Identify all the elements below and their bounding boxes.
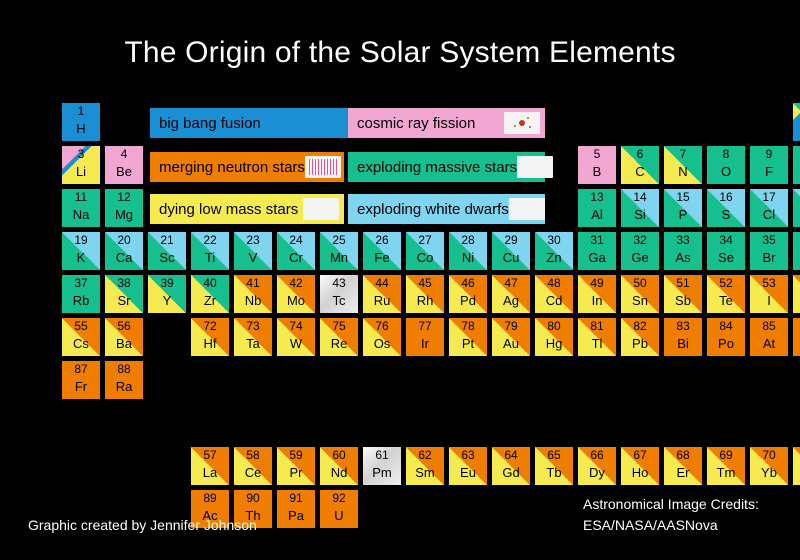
element-number: 35 [750,233,788,247]
element-number: 72 [191,319,229,333]
element-cell-fr[interactable]: 87Fr [62,361,100,399]
element-symbol: Pd [449,293,487,308]
element-symbol: Bi [664,336,702,351]
element-cell-as[interactable]: 33As [664,232,702,270]
element-cell-tb[interactable]: 65Tb [535,447,573,485]
element-cell-b[interactable]: 5B [578,146,616,184]
element-number: 25 [320,233,358,247]
element-number: 13 [578,190,616,204]
element-cell-yb[interactable]: 70Yb [750,447,788,485]
periodic-table-poster: The Origin of the Solar System Elements … [0,0,800,560]
element-symbol: Ar [793,207,800,222]
element-number: 67 [621,448,659,462]
element-cell-fe[interactable]: 26Fe [363,232,401,270]
element-symbol: Si [621,207,659,222]
element-cell-sm[interactable]: 62Sm [406,447,444,485]
element-number: 31 [578,233,616,247]
element-symbol: Pb [621,336,659,351]
element-number: 17 [750,190,788,204]
element-cell-pt[interactable]: 78Pt [449,318,487,356]
element-cell-ni[interactable]: 28Ni [449,232,487,270]
element-symbol: W [277,336,315,351]
element-number: 39 [148,276,186,290]
element-symbol: Yb [750,465,788,480]
element-symbol: Cl [750,207,788,222]
image-credits: Astronomical Image Credits: ESA/NASA/AAS… [583,494,759,536]
element-cell-tl[interactable]: 81Tl [578,318,616,356]
element-cell-au[interactable]: 79Au [492,318,530,356]
element-symbol: H [62,121,100,136]
element-number: 51 [664,276,702,290]
element-number: 42 [277,276,315,290]
legend-item-cosmic-ray-fission[interactable]: cosmic ray fission [348,108,545,138]
element-cell-mg[interactable]: 12Mg [105,189,143,227]
element-cell-at[interactable]: 85At [750,318,788,356]
element-symbol: Cd [535,293,573,308]
element-cell-si[interactable]: 14Si [621,189,659,227]
legend-label: dying low mass stars [150,201,303,218]
element-cell-gd[interactable]: 64Gd [492,447,530,485]
element-number: 80 [535,319,573,333]
element-number: 22 [191,233,229,247]
element-number: 87 [62,362,100,376]
element-number: 81 [578,319,616,333]
element-cell-o[interactable]: 8O [707,146,745,184]
element-cell-sr[interactable]: 38Sr [105,275,143,313]
element-cell-v[interactable]: 23V [234,232,272,270]
element-symbol: Fr [62,379,100,394]
element-number: 14 [621,190,659,204]
element-number: 49 [578,276,616,290]
element-number: 11 [62,190,100,204]
element-number: 85 [750,319,788,333]
element-number: 37 [62,276,100,290]
element-symbol: Ge [621,250,659,265]
element-cell-ir[interactable]: 77Ir [406,318,444,356]
element-cell-eu[interactable]: 63Eu [449,447,487,485]
element-symbol: V [234,250,272,265]
element-symbol: Pm [363,465,401,480]
element-cell-re[interactable]: 75Re [320,318,358,356]
element-number: 74 [277,319,315,333]
element-symbol: At [750,336,788,351]
element-number: 19 [62,233,100,247]
element-number: 54 [793,276,800,290]
element-number: 63 [449,448,487,462]
supernova-image-icon [517,156,553,178]
element-symbol: He [793,121,800,136]
white-dwarf-image-icon [509,198,545,220]
element-cell-sb[interactable]: 51Sb [664,275,702,313]
element-symbol: Al [578,207,616,222]
element-symbol: Gd [492,465,530,480]
element-cell-ag[interactable]: 47Ag [492,275,530,313]
element-cell-dy[interactable]: 66Dy [578,447,616,485]
gravitational-wave-image-icon [305,156,341,178]
element-symbol: Lu [793,465,800,480]
element-symbol: Mo [277,293,315,308]
element-cell-bi[interactable]: 83Bi [664,318,702,356]
element-cell-tc[interactable]: 43Tc [320,275,358,313]
element-number: 53 [750,276,788,290]
element-number: 47 [492,276,530,290]
element-cell-mn[interactable]: 25Mn [320,232,358,270]
element-number: 65 [535,448,573,462]
element-number: 28 [449,233,487,247]
element-symbol: Ru [363,293,401,308]
element-number: 7 [664,147,702,161]
element-cell-er[interactable]: 68Er [664,447,702,485]
element-symbol: Na [62,207,100,222]
element-cell-pa[interactable]: 91Pa [277,490,315,528]
element-cell-pd[interactable]: 46Pd [449,275,487,313]
element-symbol: Mn [320,250,358,265]
element-symbol: S [707,207,745,222]
element-number: 16 [707,190,745,204]
legend-label: merging neutron stars [150,159,305,176]
element-symbol: Sr [105,293,143,308]
element-number: 48 [535,276,573,290]
element-number: 79 [492,319,530,333]
element-symbol: Kr [793,250,800,265]
element-cell-lu[interactable]: 71Lu [793,447,800,485]
element-number: 56 [105,319,143,333]
element-symbol: N [664,164,702,179]
element-cell-u[interactable]: 92U [320,490,358,528]
element-number: 77 [406,319,444,333]
element-cell-cr[interactable]: 24Cr [277,232,315,270]
element-cell-na[interactable]: 11Na [62,189,100,227]
element-number: 83 [664,319,702,333]
element-number: 15 [664,190,702,204]
element-cell-tm[interactable]: 69Tm [707,447,745,485]
element-number: 24 [277,233,315,247]
element-cell-hg[interactable]: 80Hg [535,318,573,356]
element-symbol: Se [707,250,745,265]
element-symbol: Ga [578,250,616,265]
element-cell-br[interactable]: 35Br [750,232,788,270]
element-symbol: P [664,207,702,222]
element-number: 34 [707,233,745,247]
element-symbol: Cr [277,250,315,265]
element-cell-sc[interactable]: 21Sc [148,232,186,270]
element-cell-pm[interactable]: 61Pm [363,447,401,485]
element-number: 33 [664,233,702,247]
element-cell-xe[interactable]: 54Xe [793,275,800,313]
element-number: 26 [363,233,401,247]
element-cell-nd[interactable]: 60Nd [320,447,358,485]
element-symbol: Nb [234,293,272,308]
element-number: 44 [363,276,401,290]
element-number: 6 [621,147,659,161]
element-number: 88 [105,362,143,376]
element-number: 70 [750,448,788,462]
element-symbol: Hg [535,336,573,351]
element-symbol: Tl [578,336,616,351]
element-number: 43 [320,276,358,290]
legend-item-dying-low-mass-stars[interactable]: dying low mass stars [150,194,344,224]
element-symbol: Po [707,336,745,351]
element-symbol: Tc [320,293,358,308]
element-number: 92 [320,491,358,505]
element-symbol: Sc [148,250,186,265]
element-number: 1 [62,104,100,118]
element-symbol: Cs [62,336,100,351]
element-cell-h[interactable]: 1H [62,103,100,141]
element-number: 69 [707,448,745,462]
element-symbol: La [191,465,229,480]
element-cell-os[interactable]: 76Os [363,318,401,356]
element-symbol: Cu [492,250,530,265]
element-number: 27 [406,233,444,247]
element-number: 20 [105,233,143,247]
element-symbol: I [750,293,788,308]
element-cell-cu[interactable]: 29Cu [492,232,530,270]
image-credits-line2: ESA/NASA/AASNova [583,515,759,536]
element-cell-cd[interactable]: 48Cd [535,275,573,313]
element-cell-co[interactable]: 27Co [406,232,444,270]
element-symbol: Re [320,336,358,351]
element-cell-pr[interactable]: 59Pr [277,447,315,485]
element-cell-f[interactable]: 9F [750,146,788,184]
element-number: 82 [621,319,659,333]
element-number: 9 [750,147,788,161]
element-number: 68 [664,448,702,462]
element-symbol: Rb [62,293,100,308]
element-cell-ca[interactable]: 20Ca [105,232,143,270]
planetary-nebula-image-icon [303,198,339,220]
element-number: 23 [234,233,272,247]
element-symbol: As [664,250,702,265]
cosmic-ray-image-icon [504,112,540,134]
element-number: 64 [492,448,530,462]
element-symbol: Eu [449,465,487,480]
element-cell-k[interactable]: 19K [62,232,100,270]
legend-item-merging-neutron-stars[interactable]: merging neutron stars [150,152,344,182]
element-symbol: Ba [105,336,143,351]
element-cell-ne[interactable]: 10Ne [793,146,800,184]
element-symbol: Mg [105,207,143,222]
element-number: 55 [62,319,100,333]
element-symbol: Pt [449,336,487,351]
legend-label: big bang fusion [150,115,348,132]
element-number: 59 [277,448,315,462]
element-symbol: Dy [578,465,616,480]
element-symbol: Hf [191,336,229,351]
element-cell-w[interactable]: 74W [277,318,315,356]
element-number: 18 [793,190,800,204]
element-symbol: Os [363,336,401,351]
element-symbol: Pa [277,508,315,523]
element-cell-c[interactable]: 6C [621,146,659,184]
element-number: 71 [793,448,800,462]
element-symbol: K [62,250,100,265]
element-number: 73 [234,319,272,333]
element-symbol: Y [148,293,186,308]
element-cell-rn[interactable]: 86Rn [793,318,800,356]
element-cell-i[interactable]: 53I [750,275,788,313]
element-cell-ho[interactable]: 67Ho [621,447,659,485]
element-symbol: In [578,293,616,308]
element-number: 40 [191,276,229,290]
element-symbol: Xe [793,293,800,308]
element-number: 21 [148,233,186,247]
element-symbol: F [750,164,788,179]
element-symbol: Ta [234,336,272,351]
element-cell-pb[interactable]: 82Pb [621,318,659,356]
element-symbol: Sm [406,465,444,480]
legend-item-exploding-massive-stars[interactable]: exploding massive stars [348,152,545,182]
element-number: 41 [234,276,272,290]
element-cell-ce[interactable]: 58Ce [234,447,272,485]
element-cell-cs[interactable]: 55Cs [62,318,100,356]
element-cell-te[interactable]: 52Te [707,275,745,313]
legend-item-exploding-white-dwarfs[interactable]: exploding white dwarfs [348,194,545,224]
element-symbol: Fe [363,250,401,265]
element-cell-ru[interactable]: 44Ru [363,275,401,313]
element-symbol: Sn [621,293,659,308]
element-symbol: Er [664,465,702,480]
element-symbol: Rn [793,336,800,351]
element-number: 2 [793,104,800,118]
element-number: 91 [277,491,315,505]
element-symbol: Rh [406,293,444,308]
element-number: 52 [707,276,745,290]
element-number: 5 [578,147,616,161]
element-cell-y[interactable]: 39Y [148,275,186,313]
element-cell-rb[interactable]: 37Rb [62,275,100,313]
element-cell-n[interactable]: 7N [664,146,702,184]
legend-label: exploding massive stars [348,159,517,176]
element-symbol: Ho [621,465,659,480]
element-cell-ta[interactable]: 73Ta [234,318,272,356]
element-number: 4 [105,147,143,161]
element-cell-ba[interactable]: 56Ba [105,318,143,356]
element-symbol: Tb [535,465,573,480]
element-symbol: Ag [492,293,530,308]
element-number: 60 [320,448,358,462]
legend-label: cosmic ray fission [348,115,504,132]
element-cell-ra[interactable]: 88Ra [105,361,143,399]
element-symbol: Co [406,250,444,265]
element-number: 61 [363,448,401,462]
element-number: 32 [621,233,659,247]
element-cell-zn[interactable]: 30Zn [535,232,573,270]
element-cell-se[interactable]: 34Se [707,232,745,270]
element-symbol: C [621,164,659,179]
element-number: 66 [578,448,616,462]
element-cell-ga[interactable]: 31Ga [578,232,616,270]
element-symbol: Li [62,164,100,179]
element-cell-la[interactable]: 57La [191,447,229,485]
element-symbol: Ac [191,508,229,523]
element-cell-p[interactable]: 15P [664,189,702,227]
element-cell-hf[interactable]: 72Hf [191,318,229,356]
element-symbol: Ne [793,164,800,179]
element-symbol: Br [750,250,788,265]
element-symbol: Pr [277,465,315,480]
element-symbol: Zr [191,293,229,308]
element-number: 38 [105,276,143,290]
element-cell-li[interactable]: 3Li [62,146,100,184]
element-symbol: U [320,508,358,523]
element-number: 58 [234,448,272,462]
element-cell-rh[interactable]: 45Rh [406,275,444,313]
element-cell-ge[interactable]: 32Ge [621,232,659,270]
element-symbol: Tm [707,465,745,480]
element-number: 62 [406,448,444,462]
element-symbol: Be [105,164,143,179]
element-symbol: Zn [535,250,573,265]
element-cell-nb[interactable]: 41Nb [234,275,272,313]
element-cell-kr[interactable]: 36Kr [793,232,800,270]
element-cell-ti[interactable]: 22Ti [191,232,229,270]
element-symbol: Ce [234,465,272,480]
element-number: 75 [320,319,358,333]
element-number: 78 [449,319,487,333]
element-number: 90 [234,491,272,505]
element-number: 29 [492,233,530,247]
element-cell-be[interactable]: 4Be [105,146,143,184]
element-number: 57 [191,448,229,462]
legend-label: exploding white dwarfs [348,201,509,218]
element-symbol: Ti [191,250,229,265]
element-number: 30 [535,233,573,247]
element-cell-al[interactable]: 13Al [578,189,616,227]
element-cell-zr[interactable]: 40Zr [191,275,229,313]
element-cell-po[interactable]: 84Po [707,318,745,356]
element-cell-ar[interactable]: 18Ar [793,189,800,227]
element-symbol: B [578,164,616,179]
element-symbol: O [707,164,745,179]
element-symbol: Ra [105,379,143,394]
element-cell-th[interactable]: 90Th [234,490,272,528]
element-number: 50 [621,276,659,290]
page-title: The Origin of the Solar System Elements [0,36,800,70]
element-number: 8 [707,147,745,161]
element-number: 84 [707,319,745,333]
element-number: 36 [793,233,800,247]
element-number: 45 [406,276,444,290]
element-number: 12 [105,190,143,204]
element-number: 3 [62,147,100,161]
element-number: 10 [793,147,800,161]
element-number: 46 [449,276,487,290]
element-number: 89 [191,491,229,505]
image-credits-line1: Astronomical Image Credits: [583,494,759,515]
element-symbol: Th [234,508,272,523]
element-cell-in[interactable]: 49In [578,275,616,313]
element-cell-mo[interactable]: 42Mo [277,275,315,313]
element-symbol: Sb [664,293,702,308]
element-cell-ac[interactable]: 89Ac [191,490,229,528]
element-number: 76 [363,319,401,333]
element-cell-cl[interactable]: 17Cl [750,189,788,227]
element-symbol: Au [492,336,530,351]
element-symbol: Nd [320,465,358,480]
element-symbol: Ni [449,250,487,265]
element-symbol: Ca [105,250,143,265]
element-cell-s[interactable]: 16S [707,189,745,227]
element-cell-he[interactable]: 2He [793,103,800,141]
element-cell-sn[interactable]: 50Sn [621,275,659,313]
element-symbol: Ir [406,336,444,351]
element-number: 86 [793,319,800,333]
element-symbol: Te [707,293,745,308]
